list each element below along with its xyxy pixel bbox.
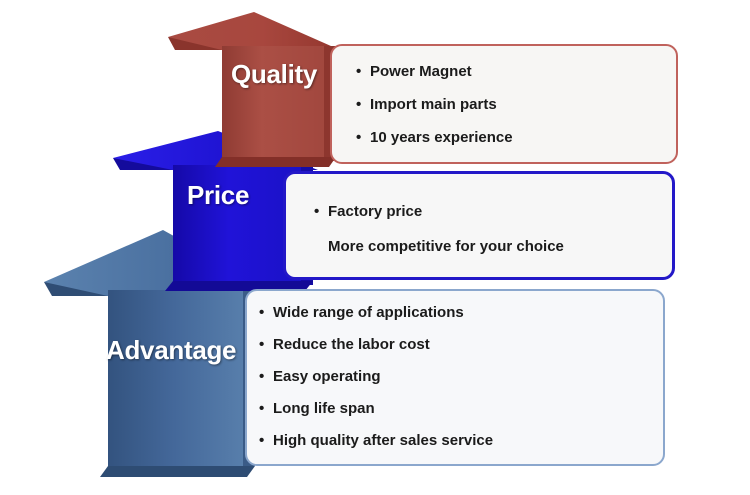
list-item: •Easy operating (259, 368, 381, 385)
list-item: •Long life span (259, 400, 375, 417)
list-item-label: Power Magnet (370, 63, 472, 80)
arrow-advantage-base-bevel (100, 466, 255, 477)
bullet-dot: • (259, 368, 273, 385)
bullet-dot: • (314, 203, 328, 220)
list-item-label: Import main parts (370, 96, 497, 113)
price-info-box: •Factory price •More competitive for you… (283, 171, 675, 280)
diagram-canvas: •Wide range of applications •Reduce the … (0, 0, 750, 495)
arrow-label-advantage: Advantage (106, 335, 236, 366)
list-item: •10 years experience (356, 129, 513, 146)
list-item-label: More competitive for your choice (328, 238, 564, 255)
arrow-quality-base-bevel (215, 157, 336, 167)
list-item: •More competitive for your choice (314, 238, 564, 255)
quality-info-box: •Power Magnet •Import main parts •10 yea… (330, 44, 678, 164)
bullet-dot: • (259, 304, 273, 321)
list-item-label: Factory price (328, 203, 422, 220)
arrow-label-quality: Quality (231, 59, 317, 90)
list-item: •High quality after sales service (259, 432, 493, 449)
list-item-label: High quality after sales service (273, 432, 493, 449)
list-item: •Factory price (314, 203, 422, 220)
arrow-label-price: Price (187, 180, 249, 211)
arrow-advantage-shaft (108, 290, 255, 466)
list-item-label: 10 years experience (370, 129, 513, 146)
advantage-bullet-list: •Wide range of applications •Reduce the … (247, 291, 663, 464)
bullet-dot: • (259, 432, 273, 449)
list-item: •Import main parts (356, 96, 497, 113)
bullet-dot: • (356, 63, 370, 80)
quality-bullet-list: •Power Magnet •Import main parts •10 yea… (332, 46, 676, 162)
bullet-dot: • (259, 400, 273, 417)
bullet-dot: • (356, 96, 370, 113)
price-bullet-list: •Factory price •More competitive for you… (286, 174, 672, 277)
list-item-label: Reduce the labor cost (273, 336, 430, 353)
list-item-label: Easy operating (273, 368, 381, 385)
advantage-info-box: •Wide range of applications •Reduce the … (245, 289, 665, 466)
list-item: •Power Magnet (356, 63, 472, 80)
list-item-label: Wide range of applications (273, 304, 464, 321)
list-item: •Reduce the labor cost (259, 336, 430, 353)
list-item: •Wide range of applications (259, 304, 464, 321)
bullet-dot: • (259, 336, 273, 353)
bullet-dot: • (356, 129, 370, 146)
list-item-label: Long life span (273, 400, 375, 417)
